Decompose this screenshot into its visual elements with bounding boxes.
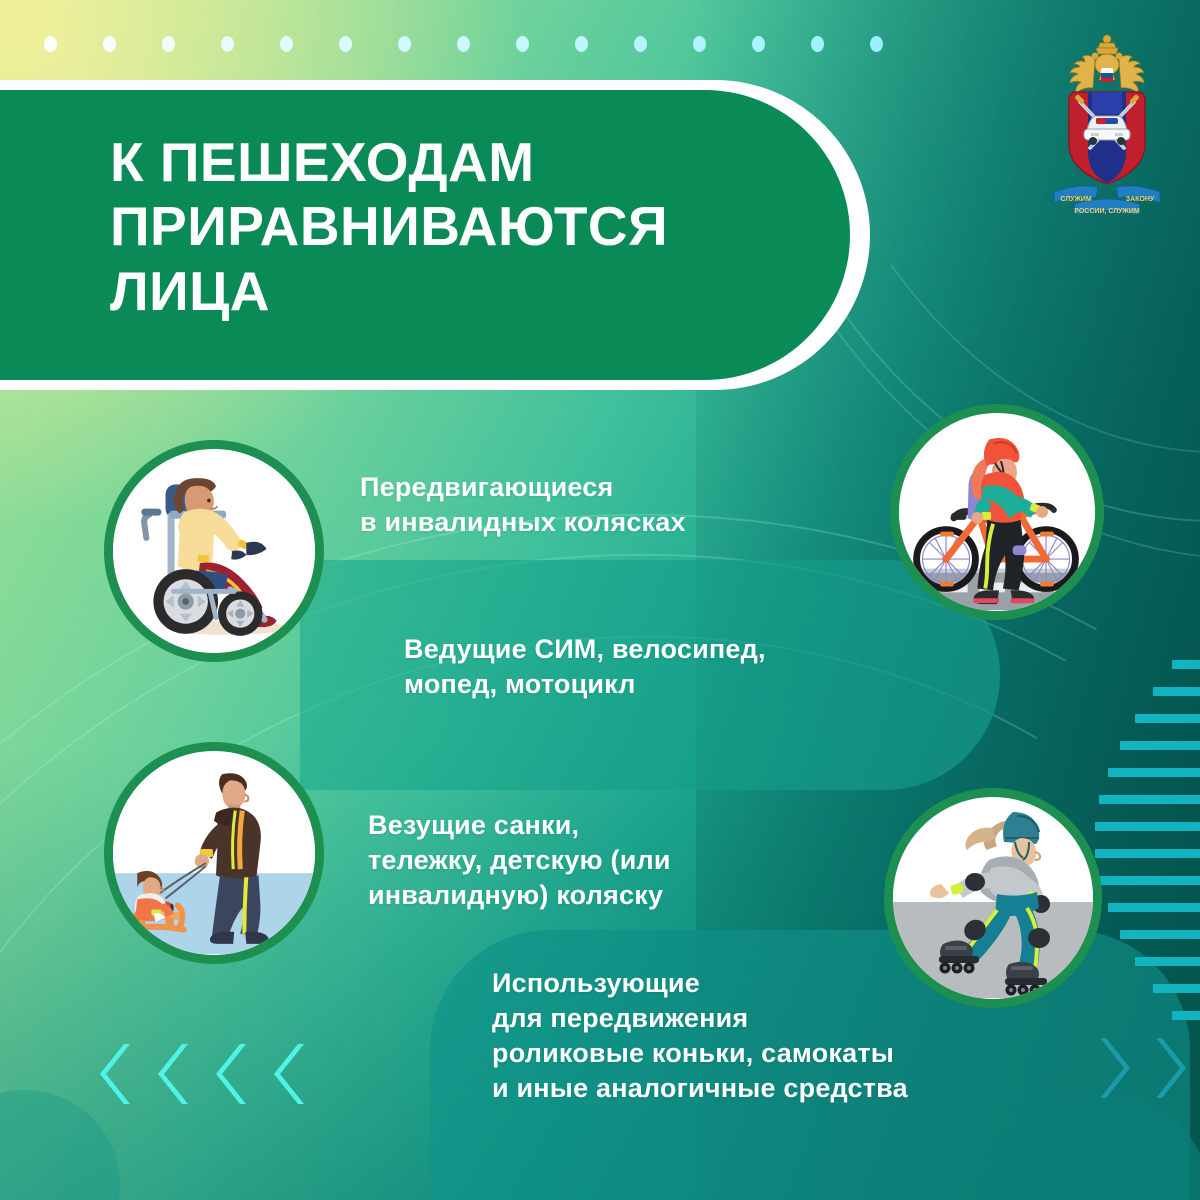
top-dot [811, 36, 824, 52]
fan-stripe [1099, 795, 1200, 804]
item-text-wheelchair-line-1: Передвигающиеся [360, 470, 880, 505]
item-text-sim: Ведущие СИМ, велосипед, мопед, мотоцикл [404, 632, 924, 702]
fan-stripe [1108, 903, 1200, 912]
top-dot [693, 36, 706, 52]
page-title-line-3: ЛИЦА [110, 259, 790, 323]
item-text-wheelchair: Передвигающиеся в инвалидных колясках [360, 470, 880, 540]
fan-stripe [1135, 957, 1200, 966]
man-pulling-sled-illustration-icon [104, 742, 324, 964]
fan-stripe [1172, 660, 1200, 669]
top-dot [575, 36, 588, 52]
infographic-poster: К ПЕШЕХОДАМ ПРИРАВНИВАЮТСЯ ЛИЦА [0, 0, 1200, 1200]
item-text-roller-line-2: для передвижения [492, 1001, 1072, 1036]
top-dot [516, 36, 529, 52]
item-text-wheelchair-line-2: в инвалидных колясках [360, 505, 880, 540]
top-dot [457, 36, 470, 52]
fan-stripe [1153, 984, 1200, 993]
top-dot [634, 36, 647, 52]
item-text-roller-line-1: Использующие [492, 966, 1072, 1001]
chevron-left-icon [274, 1042, 308, 1106]
chevron-left-icon [216, 1042, 250, 1106]
item-text-sled-line-1: Везущие санки, [368, 808, 838, 843]
emblem-motto-line-1: СЛУЖИМ [1060, 196, 1092, 203]
emblem-motto-line-3: ЗАКОНУ [1126, 196, 1155, 203]
fan-stripe [1095, 849, 1200, 858]
top-dot [221, 36, 234, 52]
chevron-right-group [1096, 1036, 1186, 1100]
top-dot-strip [44, 36, 883, 52]
item-text-roller-line-4: и иные аналогичные средства [492, 1071, 1072, 1106]
fan-stripe [1135, 714, 1200, 723]
item-text-sim-line-2: мопед, мотоцикл [404, 667, 924, 702]
top-dot [162, 36, 175, 52]
top-dot [870, 36, 883, 52]
fan-stripe [1120, 741, 1200, 750]
fan-stripes-decoration [1090, 660, 1200, 1040]
chevron-right-icon [1096, 1036, 1130, 1100]
wheelchair-user-illustration-icon [104, 440, 324, 662]
title-panel: К ПЕШЕХОДАМ ПРИРАВНИВАЮТСЯ ЛИЦА [0, 90, 850, 380]
chevron-right-icon [1152, 1036, 1186, 1100]
item-text-sim-line-1: Ведущие СИМ, велосипед, [404, 632, 924, 667]
top-dot [752, 36, 765, 52]
fan-stripe [1153, 687, 1200, 696]
item-text-roller-line-3: роликовые коньки, самокаты [492, 1036, 1072, 1071]
page-title: К ПЕШЕХОДАМ ПРИРАВНИВАЮТСЯ ЛИЦА [110, 130, 790, 323]
top-dot [339, 36, 352, 52]
chevron-left-icon [100, 1042, 134, 1106]
emblem-motto-line-2: РОССИИ, СЛУЖИМ [1074, 208, 1140, 215]
item-text-roller: Использующие для передвижения роликовые … [492, 966, 1072, 1106]
top-dot [280, 36, 293, 52]
page-title-line-1: К ПЕШЕХОДАМ [110, 130, 790, 194]
item-text-sled: Везущие санки, тележку, детскую (или инв… [368, 808, 838, 913]
fan-stripe [1172, 1011, 1200, 1020]
page-title-line-2: ПРИРАВНИВАЮТСЯ [110, 194, 790, 258]
gibdd-emblem-icon: СЛУЖИМ РОССИИ, СЛУЖИМ ЗАКОНУ [1032, 30, 1182, 230]
item-text-sled-line-2: тележку, детскую (или [368, 843, 838, 878]
chevron-left-group [100, 1042, 308, 1106]
fan-stripe [1095, 822, 1200, 831]
fan-stripe [1099, 876, 1200, 885]
fan-stripe [1120, 930, 1200, 939]
item-text-sled-line-3: инвалидную) коляску [368, 878, 838, 913]
title-panel-outline: К ПЕШЕХОДАМ ПРИРАВНИВАЮТСЯ ЛИЦА [0, 80, 870, 390]
top-dot [44, 36, 57, 52]
top-dot [103, 36, 116, 52]
fan-stripe [1108, 768, 1200, 777]
chevron-left-icon [158, 1042, 192, 1106]
top-dot [398, 36, 411, 52]
cyclist-walking-bicycle-illustration-icon [890, 404, 1104, 620]
